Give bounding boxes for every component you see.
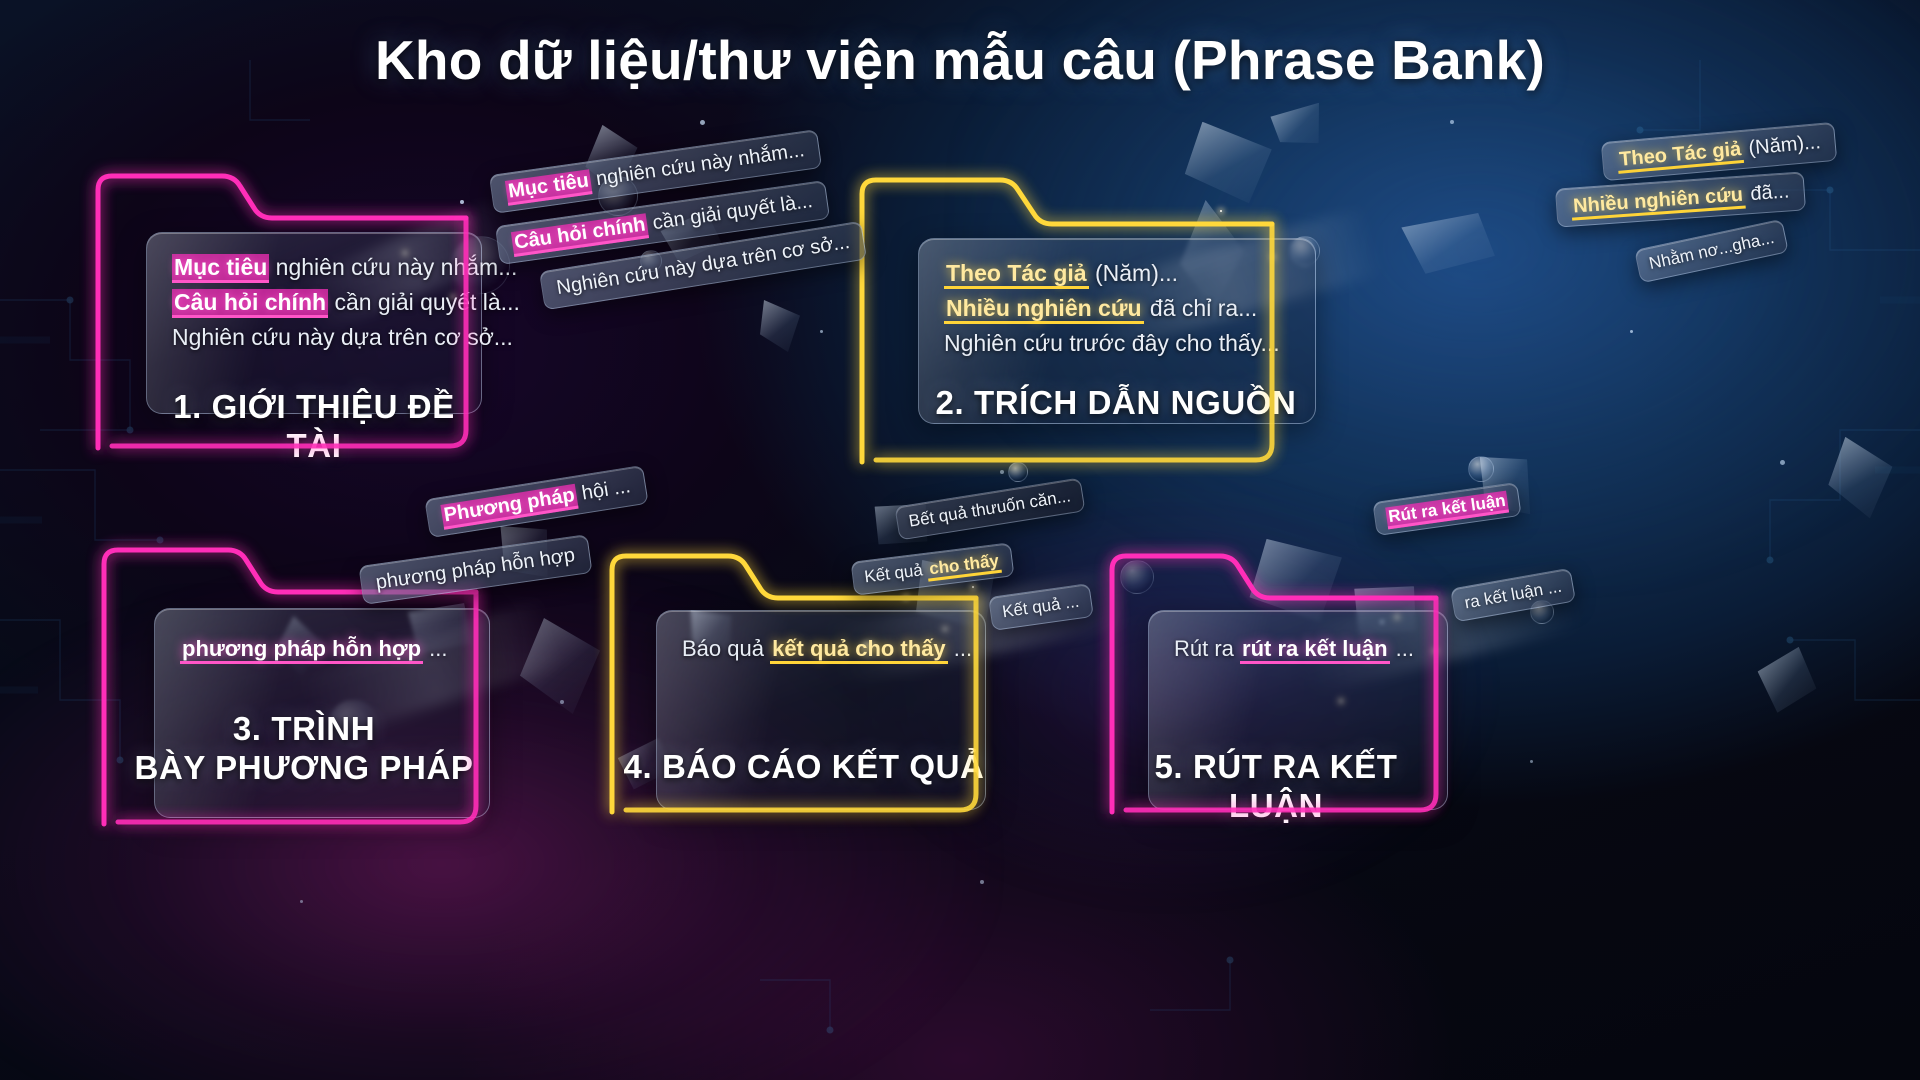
- folder-outline-pink-1: [82, 162, 482, 452]
- page-title: Kho dữ liệu/thư viện mẫu câu (Phrase Ban…: [0, 28, 1920, 92]
- chip-highlight: cho thấy: [926, 551, 1002, 582]
- folder-card-5[interactable]: [1100, 546, 1450, 816]
- chip-highlight: Mục tiêu: [505, 169, 593, 206]
- chip-text: Kết quả: [863, 560, 928, 587]
- chip-text: Kết quả ...: [1001, 592, 1080, 622]
- chip-text: đã...: [1744, 180, 1790, 205]
- folder-outline-yellow-2: [848, 168, 1288, 466]
- folder-outline-pink-5: [1100, 546, 1450, 816]
- folder-card-1[interactable]: [82, 162, 482, 452]
- folder-card-4[interactable]: [600, 546, 990, 816]
- chip-text: (Năm)...: [1742, 131, 1821, 160]
- chip-text: hội ...: [575, 475, 632, 505]
- chip-highlight: Nhiều nghiên cứu: [1570, 184, 1745, 221]
- folder-card-2[interactable]: [848, 168, 1288, 466]
- folder-outline-yellow-4: [600, 546, 990, 816]
- chip-highlight: Theo Tác giả: [1616, 138, 1744, 174]
